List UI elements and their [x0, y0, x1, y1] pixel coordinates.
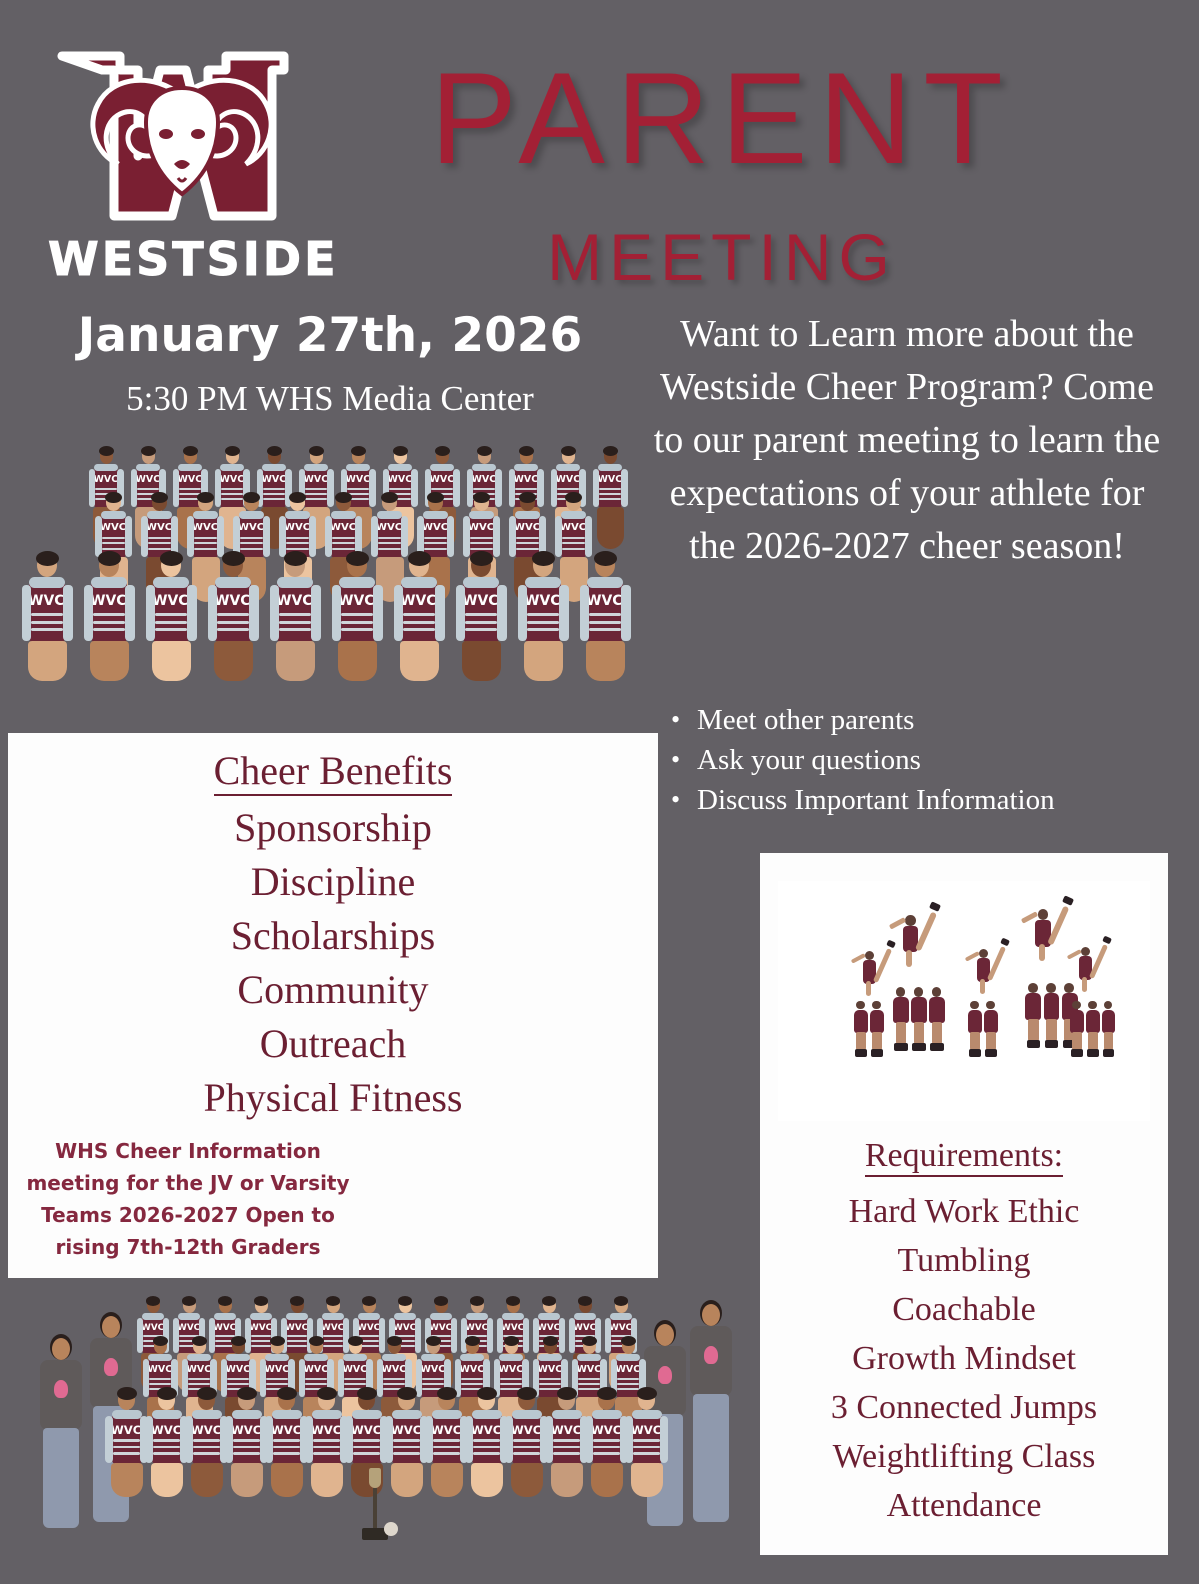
figure-shoulder-trim [469, 511, 495, 519]
figure-hair [197, 1387, 217, 1400]
figure-stripe [347, 488, 369, 490]
figure-hair [357, 1387, 377, 1400]
figure-arm [394, 585, 403, 641]
figure-shoulder-trim [322, 1313, 345, 1320]
figure-hair [105, 492, 122, 503]
figure-hair [427, 492, 444, 503]
figure-legs [338, 641, 377, 681]
figure-arm [493, 516, 500, 556]
figure-hair [397, 1387, 417, 1400]
figure-hair [346, 551, 369, 567]
coach-head [702, 1304, 720, 1326]
figure-stripe [403, 613, 436, 616]
base-boot [1071, 1049, 1083, 1056]
figure-shoulder-trim [250, 1313, 273, 1320]
coach-shirt-graphic [704, 1346, 718, 1364]
flyer-head [1081, 947, 1090, 956]
team-group-photo-bottom: WVCWVCWVCWVCWVCWVCWVCWVCWVCWVCWVCWVCWVCW… [8, 1272, 748, 1572]
figure-hair [597, 1387, 617, 1400]
cheerleader-figure: WVC [82, 554, 135, 709]
requirements-heading-text: Requirements: [865, 1137, 1063, 1177]
figure-shoulder-trim [148, 1354, 172, 1361]
figure-arm [345, 1416, 353, 1463]
trophy-stem [373, 1488, 377, 1528]
stunt-group [886, 881, 964, 1121]
figure-stripe [461, 1378, 483, 1380]
figure-shoulder-trim [152, 1410, 182, 1419]
base-uniform [1070, 1010, 1084, 1033]
figure-stripe [95, 488, 117, 490]
figure-shoulder-trim [592, 1410, 622, 1419]
figure-stripe [323, 1335, 344, 1337]
base-head [896, 987, 906, 997]
figure-arm [505, 1416, 513, 1463]
list-item: 3 Connected Jumps [760, 1383, 1168, 1432]
stunt-group [1064, 881, 1134, 1121]
figure-stripe [527, 621, 560, 624]
base-boot [930, 1043, 943, 1051]
figure-stripe [341, 613, 374, 616]
figure-arm [22, 585, 31, 641]
list-item: Sponsorship [8, 801, 658, 855]
figure-arm [625, 1416, 633, 1463]
list-item: Attendance [760, 1481, 1168, 1530]
page-title-meeting: MEETING [392, 222, 1052, 292]
figure-hair [362, 1296, 377, 1306]
figure-stripe [422, 1383, 444, 1385]
figure-arm [125, 516, 132, 556]
base-legs [856, 1032, 865, 1051]
figure-shoulder-trim [574, 1313, 597, 1320]
event-date: January 27th, 2026 [30, 308, 630, 364]
figure-arm [146, 585, 155, 641]
team-photo-figures: WVCWVCWVCWVCWVCWVCWVCWVCWVCWVCWVCWVCWVCW… [8, 432, 656, 730]
figure-legs [28, 641, 67, 681]
cheerleader-figure: WVC [584, 1390, 628, 1520]
cheer-benefits-heading: Cheer Benefits [8, 747, 658, 795]
figure-arm [593, 469, 599, 507]
base-boot [985, 1049, 997, 1056]
flyer-head [979, 949, 988, 958]
figure-shoulder-trim [265, 1354, 289, 1361]
base-legs [896, 1022, 907, 1044]
figure-shoulder-trim [346, 464, 370, 471]
figure-stripe [633, 1439, 660, 1442]
figure-shoulder-trim [598, 464, 622, 471]
figure-stripe [593, 1452, 620, 1455]
figure-stripe [516, 537, 540, 539]
figure-arm [463, 516, 470, 556]
figure-shoulder-trim [339, 577, 375, 588]
figure-hair [290, 1296, 305, 1306]
figure-stripe [332, 537, 356, 539]
figure-shoulder-trim [220, 464, 244, 471]
figure-stripe [279, 621, 312, 624]
list-item: Community [8, 963, 658, 1017]
figure-stripe [353, 1439, 380, 1442]
cheerleader-figure: WVC [268, 554, 321, 709]
coach-figure [34, 1334, 88, 1534]
base-head [1028, 983, 1038, 993]
figure-shoulder-trim [214, 1313, 237, 1320]
figure-shoulder-trim [561, 511, 587, 519]
figure-arm [225, 1416, 233, 1463]
base-uniform [1044, 993, 1060, 1020]
figure-shoulder-trim [382, 1354, 406, 1361]
figure-shoulder-trim [91, 577, 127, 588]
flyer-standing-leg [1082, 977, 1087, 992]
figure-stripe [188, 1378, 210, 1380]
figure-arm [95, 516, 102, 556]
figure-legs [391, 1463, 424, 1497]
figure-legs [586, 641, 625, 681]
figure-stripe [539, 1378, 561, 1380]
figure-shoulder-trim [272, 1410, 302, 1419]
figure-hair [470, 1296, 485, 1306]
base-boot [871, 1049, 883, 1056]
figure-shoulder-trim [352, 1410, 382, 1419]
base-boot [969, 1049, 981, 1056]
figure-hair [218, 1296, 233, 1306]
cheerleader-figure: WVC [304, 1390, 348, 1520]
figure-arm [270, 585, 279, 641]
flyer-boot [929, 901, 941, 911]
base-uniform [1086, 1010, 1100, 1033]
figure-arm [145, 1416, 153, 1463]
figure-shoulder-trim [514, 464, 538, 471]
figure-arm [125, 585, 134, 641]
figure-stripe [562, 548, 586, 550]
list-item: Growth Mindset [760, 1334, 1168, 1383]
figure-stripe [113, 1452, 140, 1455]
cheerleader-figure: WVC [206, 554, 259, 709]
cheerleader-figure: WVC [264, 1390, 308, 1520]
figure-legs [90, 641, 129, 681]
figure-shoulder-trim [610, 1313, 633, 1320]
figure-shoulder-trim [187, 1354, 211, 1361]
figure-arm [311, 585, 320, 641]
figure-arm [585, 516, 592, 556]
figure-stripe [341, 621, 374, 624]
cheerleader-figure: WVC [20, 554, 73, 709]
figure-stripe [593, 1439, 620, 1442]
flyer-extended-leg [1089, 944, 1108, 979]
flyer-extended-leg [987, 946, 1006, 981]
figure-stripe [279, 613, 312, 616]
figure-arm [208, 585, 217, 641]
figure-legs [471, 1463, 504, 1497]
figure-hair [98, 551, 121, 567]
cheerleader-figure: WVC [516, 554, 569, 709]
figure-shoulder-trim [153, 577, 189, 588]
figure-hair [473, 492, 490, 503]
figure-shoulder-trim [432, 1410, 462, 1419]
figure-shoulder-trim [94, 464, 118, 471]
flyer-standing-leg [866, 981, 871, 996]
cheer-stunt-photo [778, 881, 1150, 1121]
stunt-group [962, 881, 1016, 1121]
figure-shoulder-trim [499, 1354, 523, 1361]
base-head [914, 987, 924, 997]
figure-shoulder-trim [136, 464, 160, 471]
figure-stripe [393, 1439, 420, 1442]
coach-shirt-graphic [104, 1358, 118, 1376]
figure-shoulder-trim [538, 1354, 562, 1361]
figure-stripe [617, 1378, 639, 1380]
list-item: Scholarships [8, 909, 658, 963]
figure-hair [243, 492, 260, 503]
figure-stripe [589, 621, 622, 624]
figure-stripe [287, 1335, 308, 1337]
flyer-standing-leg [906, 950, 912, 967]
figure-shoulder-trim [343, 1354, 367, 1361]
figure-shoulder-trim [525, 577, 561, 588]
requirements-card: Requirements: Hard Work Ethic Tumbling C… [760, 853, 1168, 1555]
figure-stripe [313, 1452, 340, 1455]
figure-shoulder-trim [472, 464, 496, 471]
list-item: Weightlifting Class [760, 1432, 1168, 1481]
figure-shoulder-trim [538, 1313, 561, 1320]
figure-stripe [539, 1383, 561, 1385]
figure-arm [401, 516, 408, 556]
figure-stripe [227, 1378, 249, 1380]
figure-stripe [332, 548, 356, 550]
figure-hair [470, 551, 493, 567]
base-uniform [968, 1010, 982, 1033]
base-head [986, 1001, 994, 1009]
flyer-boot [1000, 937, 1010, 946]
figure-stripe [153, 1439, 180, 1442]
figure-stripe [305, 1383, 327, 1385]
figure-hair [317, 1387, 337, 1400]
figure-stripe [516, 548, 540, 550]
figure-arm [559, 585, 568, 641]
figure-hair [519, 492, 536, 503]
figure-hair [326, 1296, 341, 1306]
figure-stripe [473, 488, 495, 490]
base-legs [970, 1032, 979, 1051]
figure-shoulder-trim [577, 1354, 601, 1361]
coach-head [52, 1338, 70, 1360]
list-item: Discuss Important Information [697, 780, 1197, 820]
figure-hair [254, 1296, 269, 1306]
figure-hair [437, 1387, 457, 1400]
figure-stripe [240, 548, 264, 550]
figure-shoulder-trim [112, 1410, 142, 1419]
figure-arm [265, 1416, 273, 1463]
flyer-head [905, 915, 916, 926]
figure-stripe [273, 1439, 300, 1442]
figure-stripe [31, 613, 64, 616]
base-uniform [984, 1010, 998, 1033]
intro-paragraph: Want to Learn more about the Westside Ch… [648, 308, 1166, 573]
flyer-boot [1102, 935, 1112, 944]
figure-hair [157, 1387, 177, 1400]
coach-jeans [693, 1394, 729, 1522]
figure-shoulder-trim [512, 1410, 542, 1419]
figure-shoulder-trim [502, 1313, 525, 1320]
figure-hair [565, 492, 582, 503]
figure-stripe [465, 613, 498, 616]
figure-legs [214, 641, 253, 681]
cheerleader-figure: WVC [144, 554, 197, 709]
base-uniform [1102, 1010, 1116, 1033]
base-legs [1072, 1032, 1081, 1051]
figure-arm [435, 585, 444, 641]
figure-stripe [378, 548, 402, 550]
coach-shirt-graphic [658, 1366, 672, 1384]
base-uniform [911, 997, 927, 1023]
figure-stripe [155, 621, 188, 624]
figure-legs [631, 1463, 664, 1497]
figure-shoulder-trim [556, 464, 580, 471]
base-head [1104, 1001, 1112, 1009]
requirements-list: Hard Work Ethic Tumbling Coachable Growt… [760, 1187, 1168, 1530]
figure-shoulder-trim [472, 1410, 502, 1419]
figure-stripe [193, 1439, 220, 1442]
figure-shoulder-trim [285, 511, 311, 519]
base-legs [1104, 1032, 1113, 1051]
trophy-cup [369, 1468, 381, 1488]
base-boot [1087, 1049, 1099, 1056]
figure-hair [36, 551, 59, 567]
figure-stripe [378, 537, 402, 539]
base-uniform [854, 1010, 868, 1033]
cheerleader-figure: WVC [504, 1390, 548, 1520]
team-group-photo-top: WVCWVCWVCWVCWVCWVCWVCWVCWVCWVCWVCWVCWVCW… [8, 432, 656, 730]
cheerleader-figure: WVC [624, 1390, 668, 1520]
base-boot [912, 1043, 925, 1051]
figure-shoulder-trim [277, 577, 313, 588]
flyer-extended-leg [915, 911, 937, 951]
coach-figure [684, 1300, 738, 1528]
list-item: Outreach [8, 1017, 658, 1071]
team-photo-bottom-figures: WVCWVCWVCWVCWVCWVCWVCWVCWVCWVCWVCWVCWVCW… [8, 1272, 748, 1572]
figure-stripe [102, 537, 126, 539]
figure-shoulder-trim [312, 1410, 342, 1419]
figure-arm [332, 585, 341, 641]
figure-stripe [263, 488, 285, 490]
figure-stripe [344, 1378, 366, 1380]
intro-bullet-list: Meet other parents Ask your questions Di… [665, 700, 1197, 820]
trophy-icon [360, 1468, 390, 1546]
figure-shoulder-trim [616, 1354, 640, 1361]
figure-stripe [149, 1383, 171, 1385]
westside-logo: WESTSIDE [48, 38, 316, 286]
figure-hair [434, 1296, 449, 1306]
figure-stripe [500, 1378, 522, 1380]
figure-hair [542, 1296, 557, 1306]
cheerleader-figure: WVC [224, 1390, 268, 1520]
figure-hair [222, 551, 245, 567]
figure-stripe [562, 537, 586, 539]
figure-legs [462, 641, 501, 681]
base-head [856, 1001, 864, 1009]
westside-w-ram-icon [48, 38, 316, 236]
figure-stripe [286, 548, 310, 550]
figure-shoulder-trim [286, 1313, 309, 1320]
figure-hair [289, 492, 306, 503]
figure-shoulder-trim [460, 1354, 484, 1361]
figure-stripe [227, 1383, 249, 1385]
figure-shoulder-trim [423, 511, 449, 519]
figure-arm [84, 585, 93, 641]
flyer-head [1038, 909, 1049, 920]
flyer-standing-leg [1039, 944, 1045, 961]
figure-arm [447, 516, 454, 556]
list-item: Hard Work Ethic [760, 1187, 1168, 1236]
cheer-benefits-heading-text: Cheer Benefits [214, 748, 453, 796]
figure-arm [305, 1416, 313, 1463]
figure-stripe [433, 1439, 460, 1442]
event-time-location: 5:30 PM WHS Media Center [30, 378, 630, 420]
figure-hair [517, 1387, 537, 1400]
figure-arm [63, 585, 72, 641]
figure-stripe [93, 613, 126, 616]
figure-arm [279, 516, 286, 556]
figure-stripe [221, 488, 243, 490]
figure-stripe [461, 1383, 483, 1385]
figure-shoulder-trim [358, 1313, 381, 1320]
figure-shoulder-trim [215, 577, 251, 588]
figure-stripe [383, 1383, 405, 1385]
figure-legs [551, 1463, 584, 1497]
figure-hair [614, 1296, 629, 1306]
figure-stripe [266, 1383, 288, 1385]
base-uniform [870, 1010, 884, 1033]
figure-legs [231, 1463, 264, 1497]
figure-shoulder-trim [178, 464, 202, 471]
figure-stripe [148, 537, 172, 539]
figure-arm [141, 516, 148, 556]
figure-stripe [137, 488, 159, 490]
figure-stripe [93, 621, 126, 624]
cheerleader-figure: WVC [144, 1390, 188, 1520]
figure-shoulder-trim [142, 1313, 165, 1320]
base-boot [1045, 1040, 1058, 1049]
figure-hair [578, 1296, 593, 1306]
figure-shoulder-trim [430, 1313, 453, 1320]
figure-hair [197, 492, 214, 503]
figure-shoulder-trim [331, 511, 357, 519]
figure-shoulder-trim [192, 1410, 222, 1419]
figure-stripe [470, 537, 494, 539]
figure-stripe [617, 1383, 639, 1385]
base-legs [914, 1022, 925, 1044]
figure-stripe [305, 1378, 327, 1380]
figure-hair [160, 551, 183, 567]
figure-stripe [599, 493, 621, 495]
figure-hair [637, 1387, 657, 1400]
base-legs [872, 1032, 881, 1051]
figure-shoulder-trim [239, 511, 265, 519]
list-item: Physical Fitness [8, 1071, 658, 1125]
figure-stripe [578, 1383, 600, 1385]
figure-legs [152, 641, 191, 681]
figure-stripe [113, 1439, 140, 1442]
cheerleader-figure: WVC [330, 554, 383, 709]
figure-stripe [305, 488, 327, 490]
base-head [1088, 1001, 1096, 1009]
figure-stripe [393, 1452, 420, 1455]
figure-shoulder-trim [147, 511, 173, 519]
figure-stripe [273, 1452, 300, 1455]
figure-legs [597, 507, 623, 549]
list-item: Coachable [760, 1285, 1168, 1334]
cheerleader-figure: WVC [578, 554, 631, 709]
cheerleader-figure: WVC [392, 554, 445, 709]
figure-arm [325, 516, 332, 556]
